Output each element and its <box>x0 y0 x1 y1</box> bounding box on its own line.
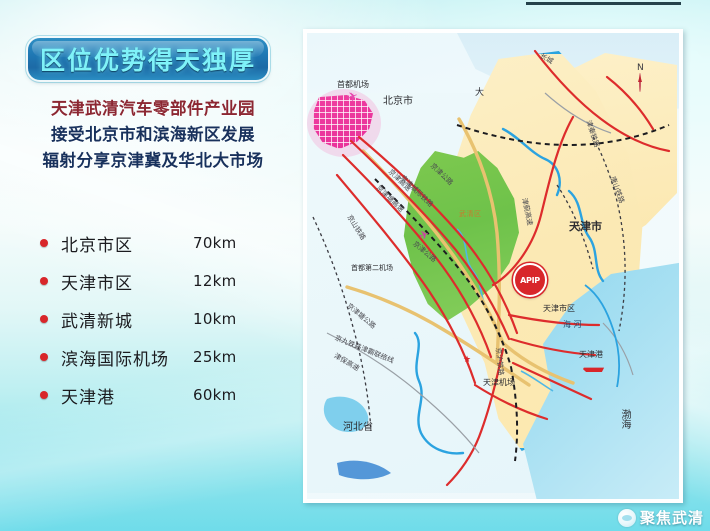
apip-park-marker[interactable]: APIP <box>513 263 547 297</box>
compass-rose: N <box>637 63 644 92</box>
headline-line-3: 辐射分享京津冀及华北大市场 <box>22 148 284 174</box>
label-tianjin-port: 天津港 <box>579 351 603 359</box>
apip-badge-label: APIP <box>520 276 540 285</box>
distance-value: 25km <box>193 348 237 366</box>
distance-value: 60km <box>193 386 237 404</box>
label-tianjin-urban: 天津市区 <box>543 305 575 313</box>
list-item: 北京市区 70km <box>40 224 280 262</box>
label-hebei-province: 河北省 <box>343 423 373 433</box>
distance-name: 天津市区 <box>61 269 193 294</box>
page-title: 区位优势得天独厚 <box>40 41 256 77</box>
label-dagang: 大 <box>475 89 484 98</box>
label-tianjin-city: 天津市 <box>569 221 602 232</box>
watermark: 聚焦武清 <box>618 507 704 528</box>
headline-line-1: 天津武清汽车零部件产业园 <box>22 96 284 122</box>
bullet-icon <box>40 391 48 399</box>
label-beijing-city: 北京市 <box>383 97 413 107</box>
circle-logo-icon <box>618 509 636 527</box>
headline-block: 天津武清汽车零部件产业园 接受北京市和滨海新区发展 辐射分享京津冀及华北大市场 <box>22 96 284 174</box>
list-item: 武清新城 10km <box>40 300 280 338</box>
list-item: 滨海国际机场 25km <box>40 338 280 376</box>
bullet-icon <box>40 353 48 361</box>
bullet-icon <box>40 277 48 285</box>
distance-value: 10km <box>193 310 237 328</box>
map-canvas: 首都机场 ✈ 北京市 ✈ 首都第二机场 武清区 天津市 天津市区 天津机场 海 … <box>307 33 679 499</box>
distance-name: 北京市区 <box>61 231 193 256</box>
list-item: 天津港 60km <box>40 376 280 414</box>
distance-name: 滨海国际机场 <box>61 345 193 370</box>
bullet-icon <box>40 315 48 323</box>
compass-north-label: N <box>637 63 644 73</box>
capital-star-icon: ★ <box>463 355 471 364</box>
distance-value: 70km <box>193 234 237 252</box>
label-capital-second-airport: 首都第二机场 <box>351 265 393 272</box>
distance-list: 北京市区 70km 天津市区 12km 武清新城 10km 滨海国际机场 25k… <box>40 224 280 414</box>
distance-name: 武清新城 <box>61 307 193 332</box>
label-tianjin-airport: 天津机场 <box>483 379 515 387</box>
watermark-text: 聚焦武清 <box>640 507 704 528</box>
label-wuqing-district: 武清区 <box>459 209 482 219</box>
distance-value: 12km <box>193 272 237 290</box>
compass-needle-icon <box>639 73 641 92</box>
label-bohai-sea: 渤海 <box>619 409 629 429</box>
distance-name: 天津港 <box>61 383 193 408</box>
label-haihe-river: 海 河 <box>563 321 582 329</box>
slide-title-banner: 区位优势得天独厚 <box>28 38 268 80</box>
left-content-panel: 区位优势得天独厚 天津武清汽车零部件产业园 接受北京市和滨海新区发展 辐射分享京… <box>0 0 300 531</box>
headline-line-2: 接受北京市和滨海新区发展 <box>22 122 284 148</box>
slide-root: 区位优势得天独厚 天津武清汽车零部件产业园 接受北京市和滨海新区发展 辐射分享京… <box>0 0 710 531</box>
location-map: 首都机场 ✈ 北京市 ✈ 首都第二机场 武清区 天津市 天津市区 天津机场 海 … <box>303 29 683 503</box>
bullet-icon <box>40 239 48 247</box>
top-divider-rule <box>526 2 681 5</box>
list-item: 天津市区 12km <box>40 262 280 300</box>
